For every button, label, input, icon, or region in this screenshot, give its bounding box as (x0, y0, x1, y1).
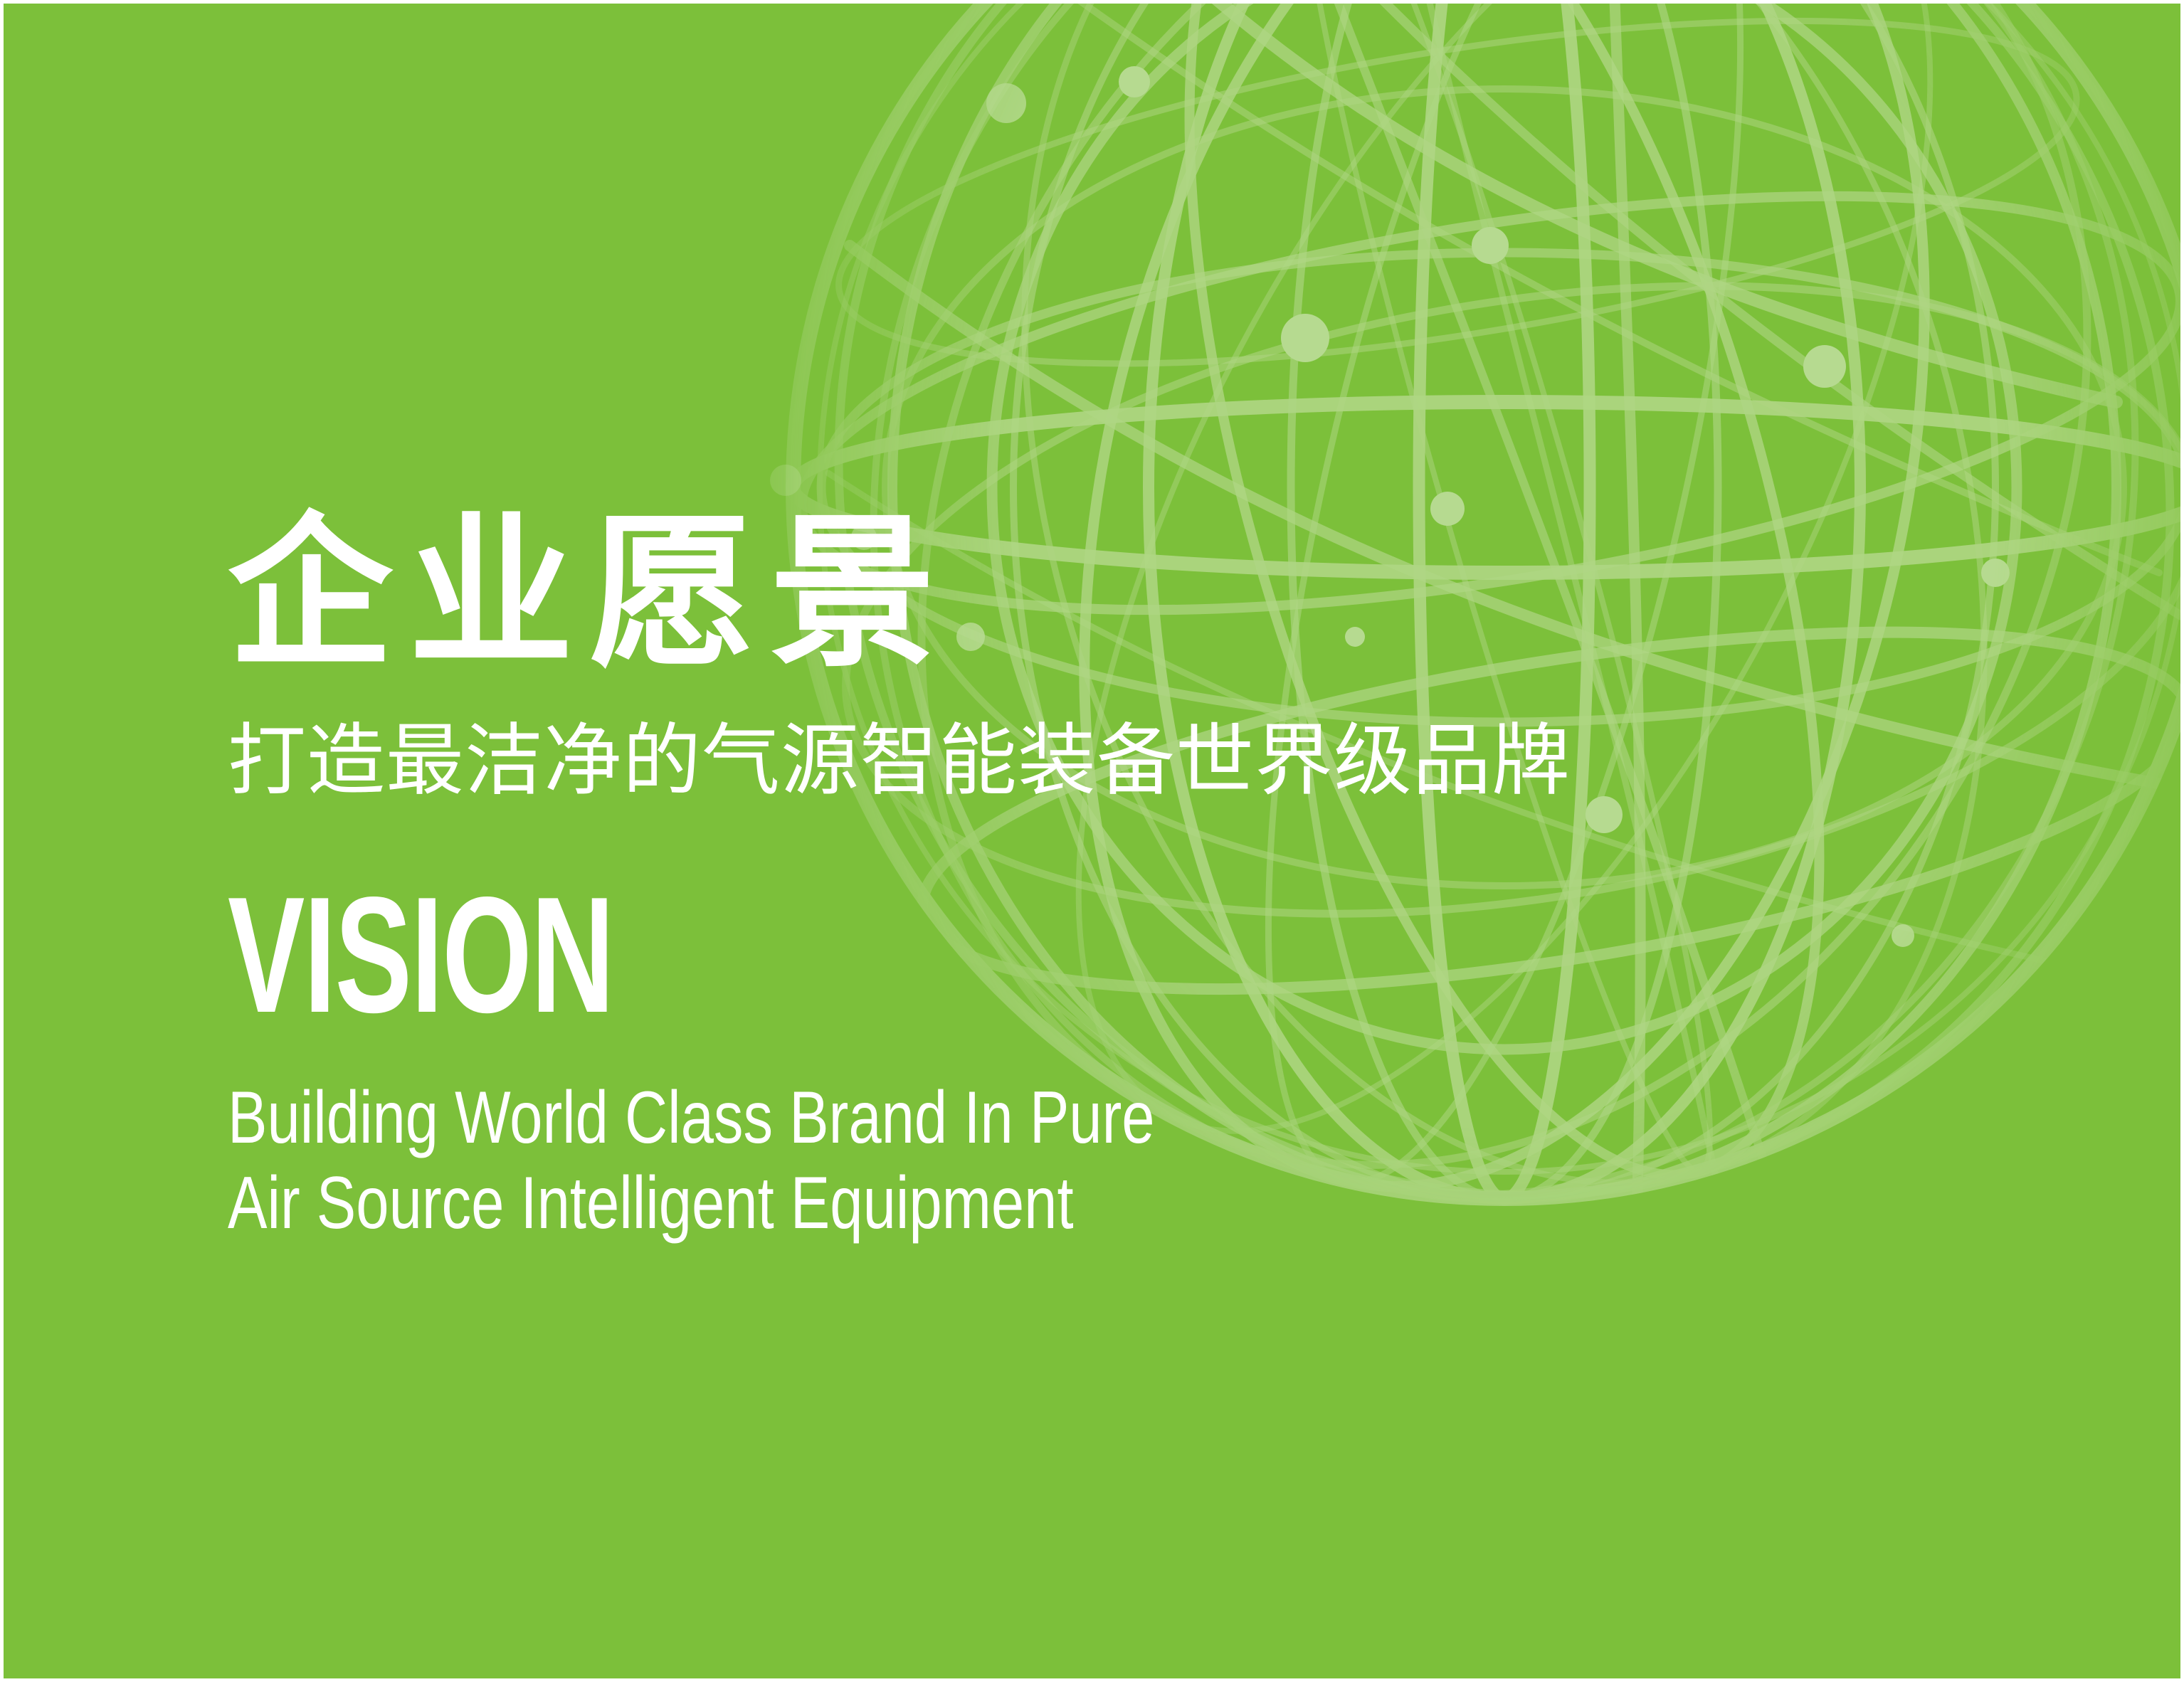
slide-canvas: 企业愿景 打造最洁净的气源智能装备世界级品牌 VISION Building W… (4, 4, 2180, 1678)
description-line-1: Building World Class Brand In Pure (228, 1075, 1480, 1161)
vision-text-block: 企业愿景 打造最洁净的气源智能装备世界级品牌 VISION Building W… (228, 502, 1793, 1247)
description-english: Building World Class Brand In Pure Air S… (228, 1075, 1480, 1247)
page-title-chinese: 企业愿景 (228, 502, 1793, 687)
description-line-2: Air Source Intelligent Equipment (228, 1160, 1480, 1247)
page-title-english: VISION (228, 873, 1324, 1038)
slide: 企业愿景 打造最洁净的气源智能装备世界级品牌 VISION Building W… (0, 0, 2184, 1682)
subtitle-chinese: 打造最洁净的气源智能装备世界级品牌 (228, 714, 1793, 808)
